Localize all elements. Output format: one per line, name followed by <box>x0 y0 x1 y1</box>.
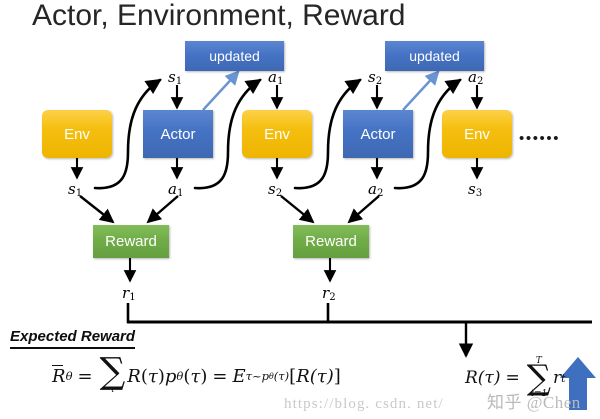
node-actor-1[interactable]: Actor <box>143 110 213 158</box>
watermark-url: https://blog. csdn. net/ <box>284 396 444 413</box>
formula-rbar-subscript: θ <box>66 369 73 383</box>
label-text: a <box>268 68 277 86</box>
arrow-layer <box>0 0 600 419</box>
label-r2: r2 <box>322 286 336 303</box>
formula-rbar-R: R <box>52 366 66 387</box>
label-text: a <box>468 68 477 86</box>
paren-open-1: ( <box>141 366 148 387</box>
label-subscript: 1 <box>176 76 182 87</box>
formula-E-term: E <box>232 366 245 387</box>
label-s1-bottom: s1 <box>68 182 82 199</box>
formula-expected-reward: Rθ = ∑ τ R(τ)pθ(τ) = Eτ~pθ(τ)[R(τ)] <box>52 358 341 394</box>
page-title: Actor, Environment, Reward <box>32 0 406 33</box>
formula-p-term: p <box>165 366 177 387</box>
paren-close-2: ) <box>200 366 207 387</box>
label-text: a <box>168 180 177 198</box>
label-a1-top: a1 <box>268 70 283 87</box>
return-equals: = <box>500 368 524 388</box>
node-updated-2[interactable]: updated <box>385 41 484 71</box>
label-subscript: 1 <box>277 76 283 87</box>
label-subscript: 3 <box>476 188 482 199</box>
label-subscript: 2 <box>276 188 282 199</box>
label-text: s <box>68 180 76 198</box>
watermark-zhihu: 知乎 @Chen <box>487 388 581 413</box>
label-text: a <box>368 180 377 198</box>
bracket-R-tau: R(τ) <box>296 366 334 387</box>
tau-1: τ <box>148 366 158 387</box>
node-label: Reward <box>305 234 357 249</box>
formula-sigma-tau: ∑ τ <box>100 358 126 394</box>
label-s1-top: s1 <box>168 70 182 87</box>
label-s3-bottom: s3 <box>468 182 482 199</box>
node-label: Reward <box>105 234 157 249</box>
node-label: updated <box>209 49 260 63</box>
paren-open-2: ( <box>183 366 190 387</box>
node-actor-2[interactable]: Actor <box>343 110 413 158</box>
label-subscript: 2 <box>376 76 382 87</box>
label-s2-top: s2 <box>368 70 382 87</box>
node-label: Env <box>464 127 490 142</box>
node-label: Env <box>64 127 90 142</box>
ellipsis-continuation: •••••• <box>519 130 560 147</box>
formula-R-term: R <box>127 366 141 387</box>
expected-reward-heading: Expected Reward <box>10 329 135 349</box>
label-a1-bottom: a1 <box>168 182 183 199</box>
formula-equals-2: = <box>207 366 232 387</box>
node-reward-1[interactable]: Reward <box>93 225 169 258</box>
p-subscript-theta: θ <box>176 369 183 383</box>
label-text: s <box>468 180 476 198</box>
node-env-1[interactable]: Env <box>42 110 112 158</box>
label-subscript: 1 <box>129 292 135 303</box>
sigma-glyph: ∑ <box>100 358 126 386</box>
node-updated-1[interactable]: updated <box>185 41 284 71</box>
label-text: s <box>268 180 276 198</box>
label-s2-bottom: s2 <box>268 182 282 199</box>
label-subscript: 1 <box>177 188 183 199</box>
node-env-2[interactable]: Env <box>242 110 312 158</box>
return-r-subscript: t <box>561 372 565 385</box>
bracket-close: ] <box>334 366 341 387</box>
tau-2: τ <box>190 366 200 387</box>
diagram-canvas: Actor, Environment, Reward <box>0 0 600 419</box>
label-subscript: 2 <box>477 76 483 87</box>
sigma-lower-limit: τ <box>110 386 115 394</box>
label-text: s <box>368 68 376 86</box>
E-subscript: τ~p <box>246 369 269 383</box>
paren-close-1: ) <box>158 366 165 387</box>
node-label: updated <box>409 49 460 63</box>
return-r-term: r <box>553 368 561 388</box>
label-subscript: 2 <box>329 292 335 303</box>
label-a2-bottom: a2 <box>368 182 383 199</box>
E-subscript-tail: (τ) <box>274 369 289 383</box>
node-reward-2[interactable]: Reward <box>293 225 369 258</box>
label-text: s <box>168 68 176 86</box>
formula-equals-1: = <box>73 366 98 387</box>
node-label: Env <box>264 127 290 142</box>
node-env-3[interactable]: Env <box>442 110 512 158</box>
return-lhs: R(τ) <box>465 368 500 388</box>
node-label: Actor <box>160 127 195 142</box>
label-subscript: 2 <box>377 188 383 199</box>
node-label: Actor <box>360 127 395 142</box>
label-r1: r1 <box>122 286 136 303</box>
label-a2-top: a2 <box>468 70 483 87</box>
label-subscript: 1 <box>76 188 82 199</box>
